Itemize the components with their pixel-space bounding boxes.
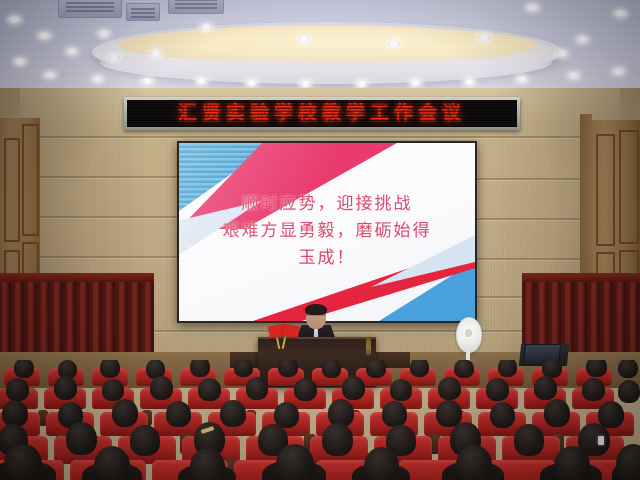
attendee-head bbox=[382, 401, 407, 427]
ceiling-downlight-icon bbox=[38, 32, 51, 39]
ac-vent-icon bbox=[126, 3, 160, 21]
attendee-head bbox=[2, 400, 28, 427]
attendee-head bbox=[498, 360, 517, 377]
audience-area bbox=[0, 360, 640, 480]
attendee-head bbox=[190, 448, 225, 480]
ceiling-downlight-icon bbox=[568, 72, 580, 79]
attendee-head bbox=[276, 444, 314, 480]
attendee-head bbox=[14, 360, 34, 378]
ceiling-downlight-icon bbox=[200, 24, 212, 31]
attendee-head bbox=[364, 447, 399, 480]
ceiling-downlight-icon bbox=[298, 36, 310, 43]
ceiling-downlight-icon bbox=[108, 54, 120, 61]
ceiling-downlight-icon bbox=[246, 80, 257, 86]
attendee-head bbox=[514, 424, 544, 456]
attendee-head bbox=[220, 400, 246, 427]
led-banner: 汇贤实验学校教学工作会议 bbox=[124, 97, 520, 130]
ceiling-downlight-icon bbox=[526, 4, 539, 11]
ceiling-downlight-icon bbox=[14, 58, 26, 65]
attendee-head bbox=[586, 360, 607, 377]
attendee-head bbox=[4, 444, 42, 480]
ceiling-downlight-icon bbox=[8, 16, 21, 23]
attendee-head bbox=[410, 360, 429, 377]
attendee-head bbox=[150, 376, 173, 400]
ceiling-downlight-icon bbox=[44, 72, 56, 78]
stage-curtain-right-valance bbox=[522, 273, 640, 282]
led-banner-text: 汇贤实验学校教学工作会议 bbox=[178, 104, 466, 123]
ceiling-downlight-icon bbox=[464, 79, 475, 85]
attendee-head bbox=[490, 402, 515, 428]
attendee-head bbox=[390, 379, 412, 401]
attendee-head bbox=[598, 401, 624, 428]
ac-vent-icon bbox=[168, 0, 224, 14]
attendee-head bbox=[534, 376, 557, 400]
led-banner-screen: 汇贤实验学校教学工作会议 bbox=[127, 100, 517, 127]
electric-fan-hub bbox=[465, 329, 472, 337]
ceiling-downlight-icon bbox=[300, 81, 311, 87]
attendee-head bbox=[112, 399, 138, 427]
attendee-head bbox=[166, 401, 191, 427]
attendee-head bbox=[438, 377, 461, 400]
ceiling-downlight-icon bbox=[142, 78, 153, 84]
attendee-head bbox=[94, 446, 130, 480]
china-flag-icon bbox=[282, 324, 300, 338]
attendee-head bbox=[618, 380, 640, 403]
attendee-head bbox=[322, 360, 341, 378]
ceiling-downlight-icon bbox=[196, 78, 207, 84]
ceiling-downlight-icon bbox=[556, 50, 568, 57]
attendee-head bbox=[278, 360, 298, 377]
ceiling-downlight-icon bbox=[92, 76, 103, 82]
slide-text-block: 顺时应势，迎接挑战 艰难方显勇毅，磨砺始得 玉成！ bbox=[179, 191, 475, 272]
speaker-hair bbox=[305, 304, 327, 315]
attendee-head bbox=[342, 376, 365, 400]
ceiling-downlight-icon bbox=[98, 30, 110, 37]
attendee-head bbox=[66, 422, 97, 455]
attendee-head bbox=[246, 377, 268, 400]
ac-vent-icon bbox=[58, 0, 122, 18]
attendee-head bbox=[102, 379, 124, 401]
ceiling-dome-lip bbox=[100, 40, 552, 84]
water-bottle-icon bbox=[366, 338, 371, 355]
stage-curtain-left-valance bbox=[0, 273, 154, 282]
ceiling-downlight-icon bbox=[576, 36, 589, 43]
attendee-head bbox=[322, 423, 353, 456]
auditorium-photo: 汇贤实验学校教学工作会议 顺时应势，迎接挑战 艰难方显勇毅，磨砺始得 玉成！ bbox=[0, 0, 640, 480]
ceiling-downlight-icon bbox=[614, 10, 627, 17]
ceiling-downlight-icon bbox=[150, 50, 162, 57]
projection-screen: 顺时应势，迎接挑战 艰难方显勇毅，磨砺始得 玉成！ bbox=[179, 143, 475, 321]
ceiling-downlight-icon bbox=[356, 81, 367, 87]
attendee-head bbox=[190, 360, 210, 377]
attendee-head bbox=[554, 446, 590, 480]
attendee-head bbox=[544, 399, 570, 427]
attendee-head bbox=[616, 444, 640, 480]
attendee-head bbox=[6, 378, 29, 401]
ceiling-downlight-icon bbox=[410, 80, 421, 86]
attendee-head bbox=[366, 360, 386, 378]
smartphone-icon[interactable] bbox=[598, 436, 604, 445]
attendee-head bbox=[234, 360, 253, 377]
slide-text-line-1: 顺时应势，迎接挑战 bbox=[179, 191, 475, 218]
attendee-head bbox=[130, 425, 160, 456]
ceiling-downlight-icon bbox=[516, 76, 528, 82]
attendee-head bbox=[100, 360, 120, 378]
slide-text-line-3: 玉成！ bbox=[179, 245, 475, 272]
attendee-head bbox=[454, 360, 474, 378]
attendee-head bbox=[198, 378, 221, 401]
attendee-head bbox=[294, 378, 317, 401]
ceiling-downlight-icon bbox=[612, 68, 625, 75]
projection-screen-frame: 顺时应势，迎接挑战 艰难方显勇毅，磨砺始得 玉成！ bbox=[177, 141, 477, 323]
attendee-head bbox=[54, 376, 77, 400]
ceiling-downlight-icon bbox=[388, 40, 400, 47]
attendee-head bbox=[582, 378, 605, 401]
attendee-head bbox=[618, 360, 638, 378]
attendee-head bbox=[486, 378, 509, 401]
ceiling-downlight-icon bbox=[478, 34, 490, 41]
attendee-head bbox=[456, 445, 492, 480]
slide-text-line-2: 艰难方显勇毅，磨砺始得 bbox=[179, 218, 475, 245]
ceiling-downlight-icon bbox=[66, 48, 78, 55]
